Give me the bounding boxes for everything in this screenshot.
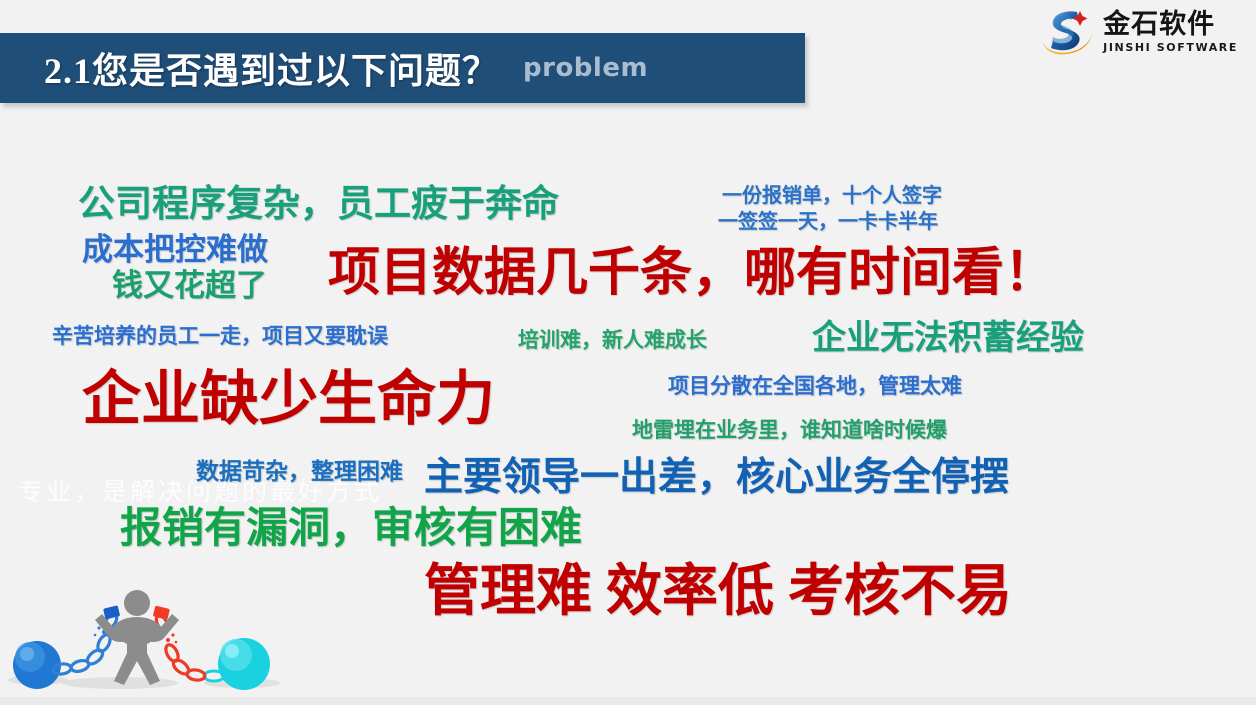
slide-bottom-edge [0, 697, 1256, 705]
word-cloud-item: 成本把控难做 [82, 234, 268, 265]
word-cloud-item: 钱又花超了 [112, 270, 267, 301]
word-cloud-item: 数据苛杂，整理困难 [196, 460, 403, 483]
word-cloud-item: 项目数据几千条，哪有时间看！ [328, 248, 1056, 300]
word-cloud-item: 管理难 效率低 考核不易 [424, 564, 1012, 620]
word-cloud-item: 一签签一天，一卡卡半年 [718, 212, 938, 232]
word-cloud-item: 企业无法积蓄经验 [812, 322, 1084, 356]
word-cloud-item: 企业缺少生命力 [82, 370, 495, 429]
word-cloud-item: 主要领导一出差，核心业务全停摆 [424, 458, 1009, 497]
word-cloud-item: 公司程序复杂，员工疲于奔命 [78, 186, 559, 223]
word-cloud-item: 辛苦培养的员工一走，项目又要耽误 [52, 326, 388, 347]
man-breaking-chains-illustration [0, 585, 330, 695]
slide-canvas: 2.1您是否遇到过以下问题？ problem [0, 0, 1256, 705]
word-cloud-item: 报销有漏洞，审核有困难 [120, 508, 582, 550]
word-cloud-item: 项目分散在全国各地，管理太难 [668, 376, 962, 397]
word-cloud-item: 培训难，新人难成长 [518, 330, 707, 351]
word-cloud-item: 地雷埋在业务里，谁知道啥时候爆 [632, 420, 947, 441]
word-cloud-item: 一份报销单，十个人签字 [722, 186, 942, 206]
